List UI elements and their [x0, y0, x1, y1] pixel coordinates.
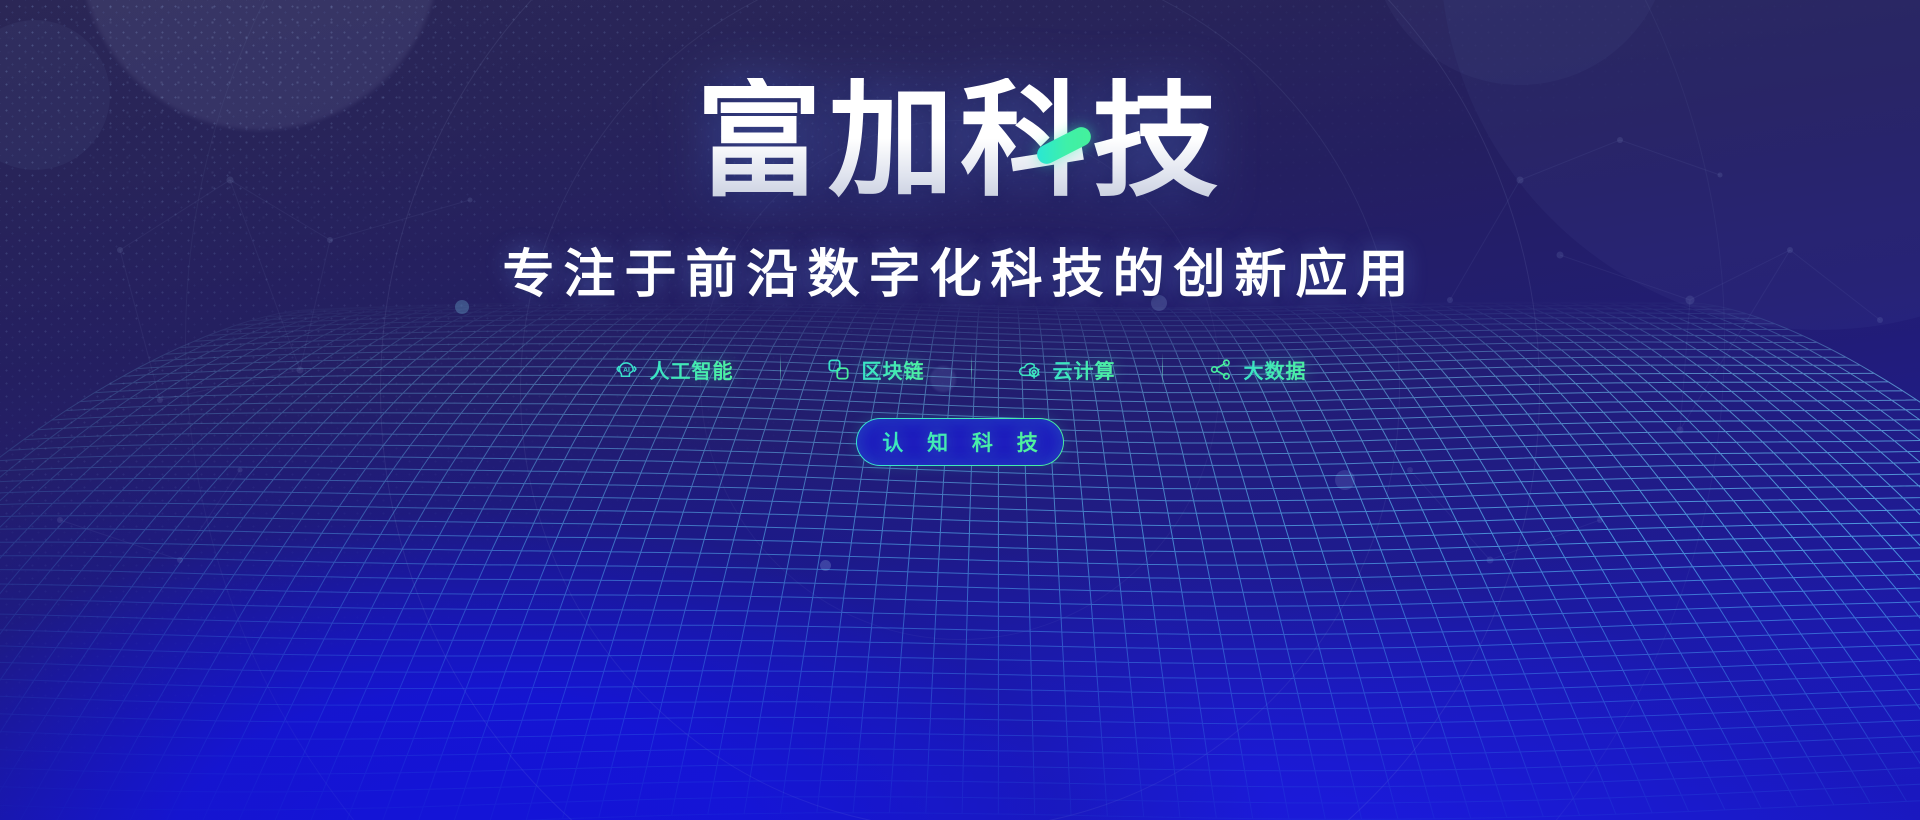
share-nodes-icon: [1208, 357, 1233, 382]
cta-label: 认 知 科 技: [873, 427, 1047, 457]
feature-tag-ai[interactable]: AI 人工智能: [568, 355, 780, 384]
hero-banner: 富加科技 专注于前沿数字化科技的创新应用 AI 人工智能: [0, 0, 1920, 820]
feature-tag-label: 区块链: [862, 355, 925, 384]
feature-tag-label: 云计算: [1053, 355, 1116, 384]
cta-container: 认 知 科 技: [856, 418, 1064, 466]
feature-tag-cloud[interactable]: 云计算: [971, 355, 1162, 384]
cloud-gear-icon: [1017, 357, 1042, 382]
cognitive-tech-button[interactable]: 认 知 科 技: [856, 418, 1064, 466]
feature-tag-list: AI 人工智能 区块链: [568, 355, 1353, 384]
page-title: 富加科技: [696, 78, 1224, 204]
feature-tag-label: 人工智能: [650, 355, 734, 384]
svg-text:AI: AI: [623, 367, 630, 374]
feature-tag-label: 大数据: [1244, 355, 1307, 384]
blockchain-blocks-icon: [826, 357, 851, 382]
feature-tag-blockchain[interactable]: 区块链: [780, 355, 971, 384]
feature-tag-bigdata[interactable]: 大数据: [1162, 355, 1353, 384]
ai-head-icon: AI: [614, 357, 639, 382]
hero-content: 富加科技 专注于前沿数字化科技的创新应用 AI 人工智能: [0, 0, 1920, 820]
page-subtitle: 专注于前沿数字化科技的创新应用: [502, 232, 1417, 307]
